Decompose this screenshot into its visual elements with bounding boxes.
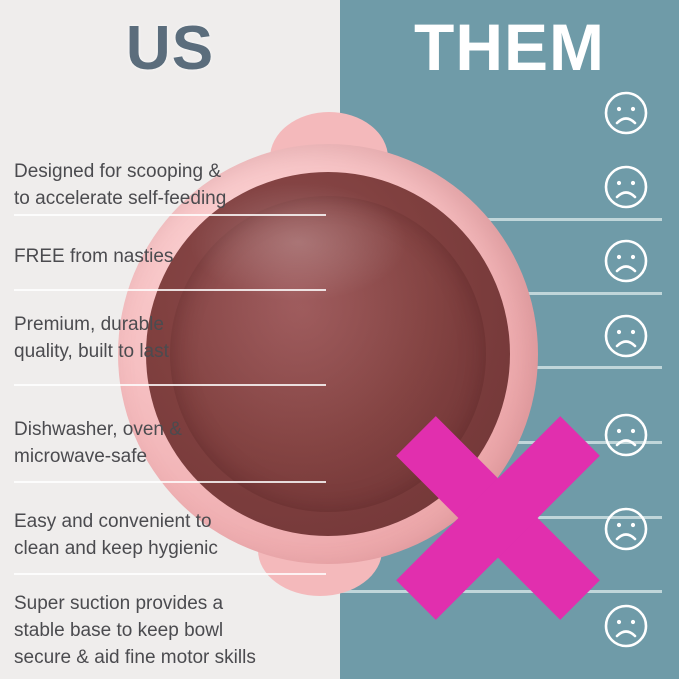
feature-line: FREE from nasties [14,243,324,270]
feature-item-easy-clean: Easy and convenient to clean and keep hy… [14,508,324,562]
feature-line: to accelerate self-feeding [14,185,324,212]
sad-face-icon [603,412,649,458]
feature-line: Designed for scooping & [14,158,324,185]
feature-line: Dishwasher, oven & [14,416,324,443]
feature-item-scooping: Designed for scooping & to accelerate se… [14,158,324,212]
sad-face-icon [603,506,649,552]
sad-face-icon [603,603,649,649]
sad-face-icon [603,164,649,210]
feature-list: Designed for scooping & to accelerate se… [0,0,340,679]
feature-line: Super suction provides a [14,590,324,617]
feature-line: Premium, durable [14,311,324,338]
feature-line: microwave-safe [14,443,324,470]
x-mark-icon [398,418,598,618]
comparison-infographic: US THEM Designed for scooping & to accel… [0,0,679,679]
feature-item-premium-durable: Premium, durable quality, built to last [14,311,324,365]
sad-face-icon [603,313,649,359]
sad-face-icon [603,90,649,136]
feature-line: secure & aid fine motor skills [14,644,324,671]
feature-item-super-suction: Super suction provides a stable base to … [14,590,324,671]
sad-face-icon [603,238,649,284]
feature-line: stable base to keep bowl [14,617,324,644]
feature-line: clean and keep hygienic [14,535,324,562]
feature-item-dishwasher-safe: Dishwasher, oven & microwave-safe [14,416,324,470]
feature-item-free-from-nasties: FREE from nasties [14,243,324,270]
feature-line: quality, built to last [14,338,324,365]
feature-line: Easy and convenient to [14,508,324,535]
